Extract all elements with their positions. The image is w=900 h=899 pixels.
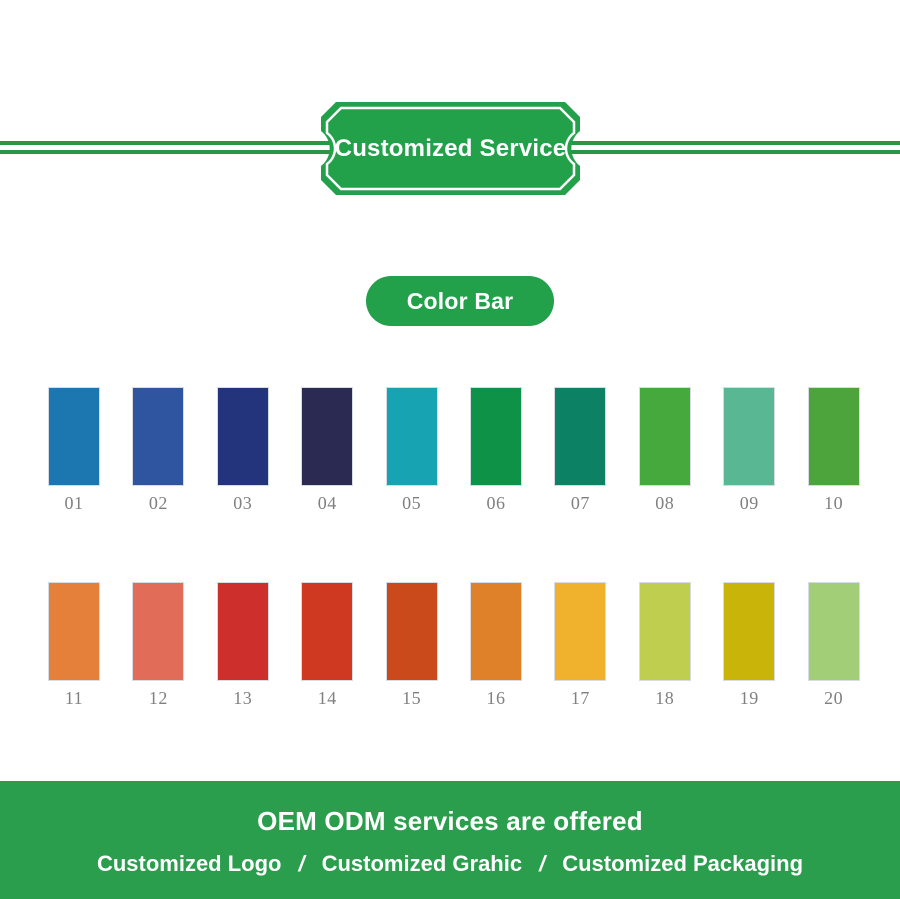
color-swatch-chip-01[interactable]: [49, 388, 99, 485]
color-swatch-chip-10[interactable]: [809, 388, 859, 485]
color-swatch-08[interactable]: 08: [640, 388, 690, 512]
color-swatch-label-15: 15: [387, 689, 437, 707]
color-swatch-chip-06[interactable]: [471, 388, 521, 485]
color-swatch-01[interactable]: 01: [49, 388, 99, 512]
color-swatch-chip-14[interactable]: [302, 583, 352, 680]
color-swatch-09[interactable]: 09: [724, 388, 774, 512]
color-swatch-label-14: 14: [302, 689, 352, 707]
footer-service-item: Customized Grahic: [322, 851, 522, 877]
color-swatch-04[interactable]: 04: [302, 388, 352, 512]
color-swatch-chip-11[interactable]: [49, 583, 99, 680]
color-swatch-19[interactable]: 19: [724, 583, 774, 707]
color-swatch-label-20: 20: [809, 689, 859, 707]
color-swatch-03[interactable]: 03: [218, 388, 268, 512]
color-swatch-chip-02[interactable]: [133, 388, 183, 485]
color-swatch-label-10: 10: [809, 494, 859, 512]
footer-headline: OEM ODM services are offered: [0, 806, 900, 837]
color-swatch-11[interactable]: 11: [49, 583, 99, 707]
color-swatch-16[interactable]: 16: [471, 583, 521, 707]
color-swatch-chip-17[interactable]: [555, 583, 605, 680]
header-plaque: Customized Service: [320, 101, 581, 196]
color-swatch-label-04: 04: [302, 494, 352, 512]
color-swatch-10[interactable]: 10: [809, 388, 859, 512]
footer-service-item: Customized Logo: [97, 851, 282, 877]
color-swatch-13[interactable]: 13: [218, 583, 268, 707]
page-title: Customized Service: [320, 101, 581, 196]
footer-service-item: Customized Packaging: [562, 851, 803, 877]
footer-separator: /: [539, 851, 545, 877]
color-swatch-chip-16[interactable]: [471, 583, 521, 680]
color-swatch-chip-18[interactable]: [640, 583, 690, 680]
color-swatch-label-01: 01: [49, 494, 99, 512]
color-swatch-chip-04[interactable]: [302, 388, 352, 485]
color-swatch-label-18: 18: [640, 689, 690, 707]
color-swatch-07[interactable]: 07: [555, 388, 605, 512]
color-swatch-label-09: 09: [724, 494, 774, 512]
color-swatch-17[interactable]: 17: [555, 583, 605, 707]
color-swatch-chip-12[interactable]: [133, 583, 183, 680]
color-swatch-12[interactable]: 12: [133, 583, 183, 707]
color-swatch-chip-15[interactable]: [387, 583, 437, 680]
color-swatch-label-11: 11: [49, 689, 99, 707]
footer-bar: OEM ODM services are offered Customized …: [0, 781, 900, 899]
color-swatch-chip-20[interactable]: [809, 583, 859, 680]
swatch-row-2: 11121314151617181920: [49, 583, 859, 711]
color-swatch-chip-05[interactable]: [387, 388, 437, 485]
color-swatch-label-13: 13: [218, 689, 268, 707]
footer-separator: /: [298, 851, 304, 877]
header-banner: Customized Service: [0, 0, 900, 230]
color-swatch-label-03: 03: [218, 494, 268, 512]
color-swatch-chip-07[interactable]: [555, 388, 605, 485]
color-swatch-chip-13[interactable]: [218, 583, 268, 680]
color-swatch-14[interactable]: 14: [302, 583, 352, 707]
color-swatch-chip-08[interactable]: [640, 388, 690, 485]
color-swatch-chip-19[interactable]: [724, 583, 774, 680]
color-swatch-02[interactable]: 02: [133, 388, 183, 512]
section-pill-label: Color Bar: [407, 288, 514, 315]
color-swatch-label-08: 08: [640, 494, 690, 512]
color-swatch-label-07: 07: [555, 494, 605, 512]
swatch-row-1: 01020304050607080910: [49, 388, 859, 516]
color-swatch-label-05: 05: [387, 494, 437, 512]
color-swatch-05[interactable]: 05: [387, 388, 437, 512]
color-swatch-06[interactable]: 06: [471, 388, 521, 512]
section-pill-color-bar: Color Bar: [366, 276, 554, 326]
color-swatch-label-16: 16: [471, 689, 521, 707]
color-swatch-chip-03[interactable]: [218, 388, 268, 485]
color-swatch-label-19: 19: [724, 689, 774, 707]
color-swatch-chip-09[interactable]: [724, 388, 774, 485]
color-swatch-label-17: 17: [555, 689, 605, 707]
color-swatch-label-12: 12: [133, 689, 183, 707]
color-swatch-15[interactable]: 15: [387, 583, 437, 707]
color-swatch-label-06: 06: [471, 494, 521, 512]
color-swatch-label-02: 02: [133, 494, 183, 512]
color-swatch-20[interactable]: 20: [809, 583, 859, 707]
color-swatch-18[interactable]: 18: [640, 583, 690, 707]
footer-services-list: Customized Logo/Customized Grahic/Custom…: [0, 851, 900, 877]
